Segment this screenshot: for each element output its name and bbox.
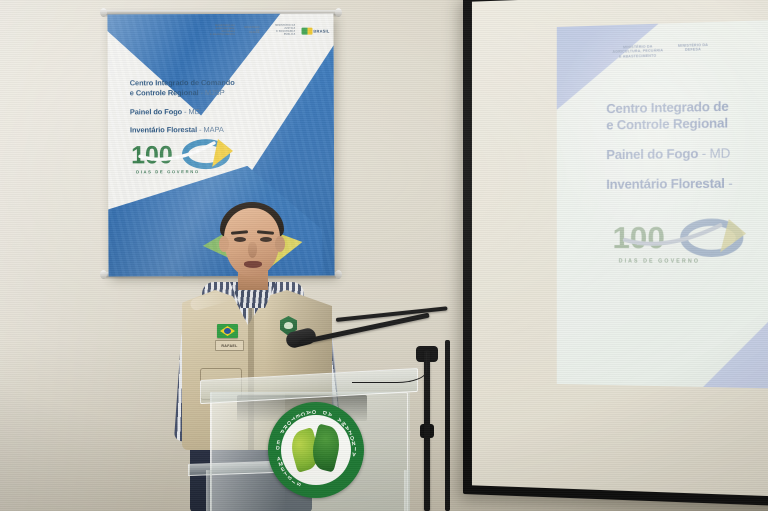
microphone-stand-pole-right xyxy=(445,340,450,511)
ministerio-defesa-logo: MINISTÉRIO DA DEFESA xyxy=(241,27,260,36)
photo-scene: MINISTÉRIO DA AGRICULTURA, PECUÁRIA E AB… xyxy=(0,0,768,511)
speaker-name-text: RAFAEL xyxy=(221,344,237,348)
brazil-flag-patch xyxy=(217,324,238,338)
flag-globe xyxy=(224,328,231,334)
banner-line-3-sub: - MD xyxy=(182,107,200,116)
microphone-cable xyxy=(352,352,427,383)
banner-rod-cap-right xyxy=(335,8,342,17)
brasil-flag-mark xyxy=(301,27,312,34)
governo-brasil-logo: BRASIL xyxy=(301,27,329,34)
slide-line-4-main: Inventário Florestal xyxy=(606,177,724,192)
banner-text-block: Centro Integrado de Comando e Controle R… xyxy=(130,78,290,136)
podium-leg-left xyxy=(206,470,212,511)
slide-line-3-sub: - MD xyxy=(698,146,730,161)
ministerio-agricultura-logo: MINISTÉRIO DA AGRICULTURA, PECUÁRIA E AB… xyxy=(612,44,663,59)
banner-line-4-sub: - MAPA xyxy=(197,125,224,134)
sipam-acronym: SIPAM xyxy=(268,485,364,492)
speaker-name-tag: RAFAEL xyxy=(215,340,244,351)
speaker-mouth xyxy=(244,261,262,268)
banner-line-3-main: Painel do Fogo xyxy=(130,107,182,116)
sipam-emblem: SISTEMA DE PROTEÇÃO DA AMAZÔNIA SIPAM xyxy=(268,402,364,498)
banner-rod-cap-left xyxy=(100,8,107,17)
projection-screen-frame: MINISTÉRIO DA AGRICULTURA, PECUÁRIA E AB… xyxy=(463,0,768,506)
speaker-eye-left xyxy=(234,237,246,242)
projection-screen-surface: MINISTÉRIO DA AGRICULTURA, PECUÁRIA E AB… xyxy=(472,0,768,497)
slide-1000-tagline: DIAS DE GOVERNO xyxy=(619,258,700,264)
banner-ministry-logos: MINISTÉRIO DA AGRICULTURA, PECUÁRIA E AB… xyxy=(203,22,329,41)
podium-leg-right xyxy=(404,470,410,511)
banner-line-4-main: Inventário Florestal xyxy=(130,125,197,134)
slide-text-block: Centro Integrado de e Controle Regional … xyxy=(606,96,768,193)
speaker-eye-right xyxy=(260,237,272,242)
ministerio-defesa-logo: MINISTÉRIO DA DEFESA xyxy=(678,43,708,58)
banner-line-4: Inventário Florestal - MAPA xyxy=(130,125,290,135)
banner-line-2-main: e Controle Regional xyxy=(130,88,199,97)
banner-1000-days-logo: 100 DIAS DE GOVERNO xyxy=(130,138,236,178)
ministerio-agricultura-logo: MINISTÉRIO DA AGRICULTURA, PECUÁRIA E AB… xyxy=(203,25,235,37)
speaker-nose xyxy=(248,242,257,258)
svg-text:100: 100 xyxy=(612,221,664,255)
slide-1000-days-logo: 100 DIAS DE GOVERNO xyxy=(610,217,750,271)
banner-1000-tagline: DIAS DE GOVERNO xyxy=(136,169,200,174)
sipam-ring-char: A xyxy=(351,450,356,457)
acrylic-podium: SISTEMA DE PROTEÇÃO DA AMAZÔNIA SIPAM xyxy=(200,374,416,511)
speaker-ear-right xyxy=(275,236,285,252)
slide-line-3: Painel do Fogo - MD xyxy=(606,144,768,164)
slide-line-3-main: Painel do Fogo xyxy=(606,147,698,163)
ministerio-justica-logo: MINISTÉRIO DA JUSTIÇA E SEGURANÇA PÚBLIC… xyxy=(266,25,296,37)
brasil-wordmark: BRASIL xyxy=(313,28,329,33)
banner-rod-cap-bl xyxy=(100,270,107,279)
sipam-ring-char: O xyxy=(310,410,316,414)
banner-line-2-sub: - MJSP xyxy=(199,88,225,97)
slide-line-4: Inventário Florestal - xyxy=(606,175,768,194)
projected-slide: MINISTÉRIO DA AGRICULTURA, PECUÁRIA E AB… xyxy=(557,19,768,389)
speaker-ear-left xyxy=(219,236,229,252)
slide-line-4-sub: - xyxy=(725,177,733,192)
svg-text:100: 100 xyxy=(131,141,173,169)
